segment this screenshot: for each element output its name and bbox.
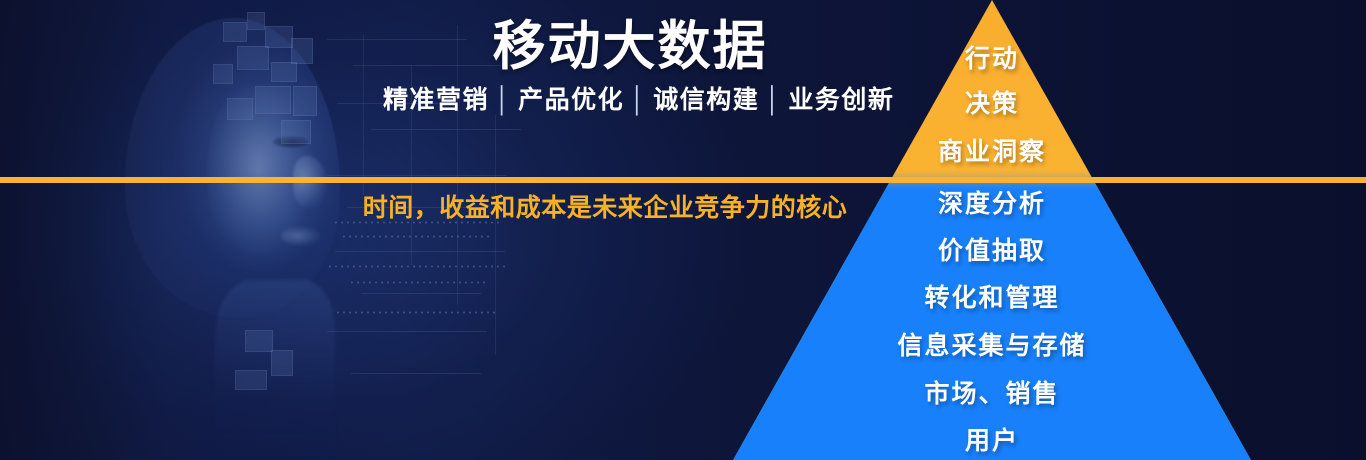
pyramid-level-collection-storage: 信息采集与存储 (733, 331, 1251, 361)
subtitle-separator: │ (624, 86, 653, 114)
gold-divider-rule (0, 177, 1366, 183)
pyramid-level-deep-analysis: 深度分析 (733, 189, 1251, 219)
pyramid-level-decision: 决策 (733, 89, 1251, 119)
subtitle-separator: │ (489, 86, 518, 114)
banner: 移动大数据 精准营销│产品优化│诚信构建│业务创新 时间，收益和成本是未来企业竞… (0, 0, 1366, 460)
subtitle-item-2: 产品优化 (518, 86, 624, 114)
pyramid-level-value-extraction: 价值抽取 (733, 236, 1251, 266)
pyramid-level-action: 行动 (733, 44, 1251, 74)
subtitle-item-1: 精准营销 (383, 86, 489, 114)
pyramid-level-business-insight: 商业洞察 (733, 137, 1251, 167)
pyramid-level-user: 用户 (733, 426, 1251, 456)
pyramid-level-conversion-management: 转化和管理 (733, 283, 1251, 313)
pyramid-level-market-sales: 市场、销售 (733, 379, 1251, 409)
